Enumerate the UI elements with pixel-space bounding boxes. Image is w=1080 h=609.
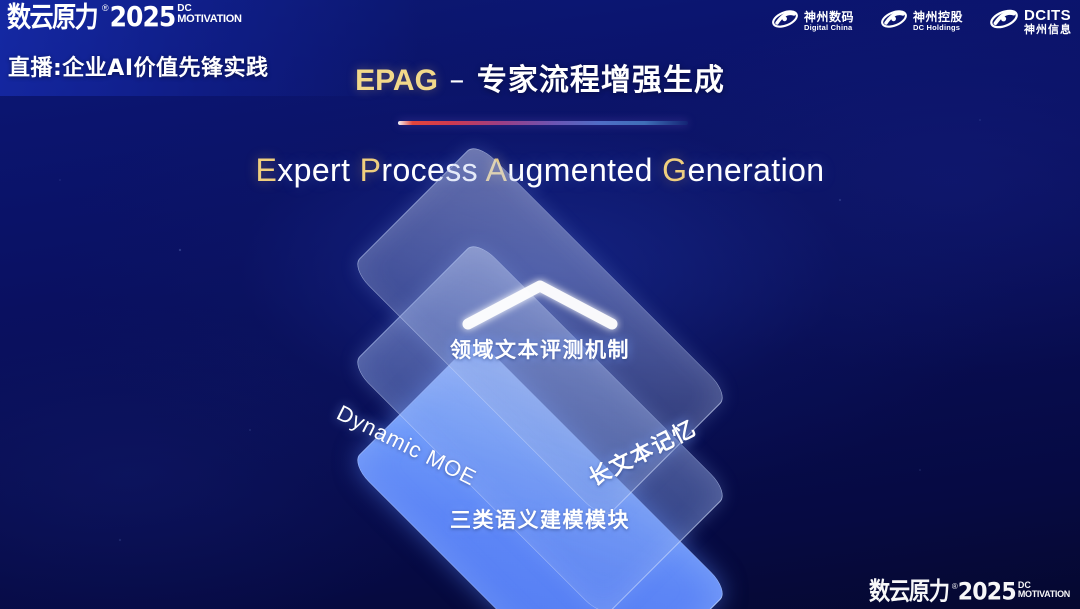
brand-motivation-label: MOTIVATION [177, 14, 241, 25]
page-title: EPAG – 专家流程增强生成 [0, 55, 1080, 99]
swirl-icon [880, 8, 908, 35]
subtitle-rest-augmented: ugmented [507, 152, 653, 188]
partner-name-en: Digital China [804, 24, 854, 32]
title-chinese: 专家流程增强生成 [477, 63, 725, 98]
swirl-icon [771, 8, 799, 35]
partner-text-dc-holdings: 神州控股 DC Holdings [913, 11, 963, 31]
subtitle-rest-expert: xpert [277, 152, 350, 188]
partner-logo-dc-holdings: 神州控股 DC Holdings [880, 8, 963, 35]
subtitle-word-generation: Generation [662, 152, 824, 188]
subtitle-word-expert: Expert [255, 152, 350, 188]
partner-name-cn: 神州信息 [1024, 24, 1072, 36]
partner-text-digital-china: 神州数码 Digital China [804, 11, 854, 31]
subtitle-cap-p: P [360, 152, 382, 188]
partner-name-cn: 神州数码 [804, 11, 854, 24]
watermark-motivation-label: MOTIVATION [1018, 590, 1070, 599]
brand-year: 2025 [110, 3, 176, 31]
subtitle-rest-generation: eneration [687, 152, 824, 188]
title-divider [398, 121, 688, 125]
partner-name-en: DC Holdings [913, 24, 963, 32]
subtitle: Expert Process Augmented Generation [0, 152, 1080, 189]
watermark-dc-motivation: DC MOTIVATION [1018, 581, 1070, 599]
subtitle-cap-g: G [662, 152, 687, 188]
layer-stack-diagram: 领域文本评测机制 Dynamic MOE 长文本记忆 三类语义建模模块 [282, 214, 798, 594]
title-acronym: EPAG [355, 64, 438, 97]
slide-root: 数云原力 ® 2025 DC MOTIVATION 直播:企业AI价值先锋实践 … [0, 0, 1080, 609]
brand-name-cn: 数云原力 [7, 3, 97, 31]
partner-name-en: DCITS [1024, 8, 1072, 24]
partner-text-dcits: DCITS 神州信息 [1024, 8, 1072, 35]
brand-logo: 数云原力 ® 2025 DC MOTIVATION [7, 3, 242, 28]
subtitle-cap-e: E [255, 152, 277, 188]
partner-logo-digital-china: 神州数码 Digital China [771, 8, 854, 35]
partner-logo-group: 神州数码 Digital China 神州控股 DC Holdings [771, 7, 1072, 36]
brand-registered-mark: ® [102, 4, 109, 13]
title-dash: – [449, 63, 465, 98]
swirl-icon [989, 7, 1019, 36]
watermark-year: 2025 [958, 581, 1016, 605]
watermark-logo: 数云原力 ® 2025 DC MOTIVATION [869, 581, 1070, 603]
partner-name-cn: 神州控股 [913, 11, 963, 24]
brand-dc-motivation: DC MOTIVATION [177, 4, 241, 25]
partner-logo-dcits: DCITS 神州信息 [989, 7, 1072, 36]
watermark-name-cn: 数云原力 [869, 581, 949, 605]
